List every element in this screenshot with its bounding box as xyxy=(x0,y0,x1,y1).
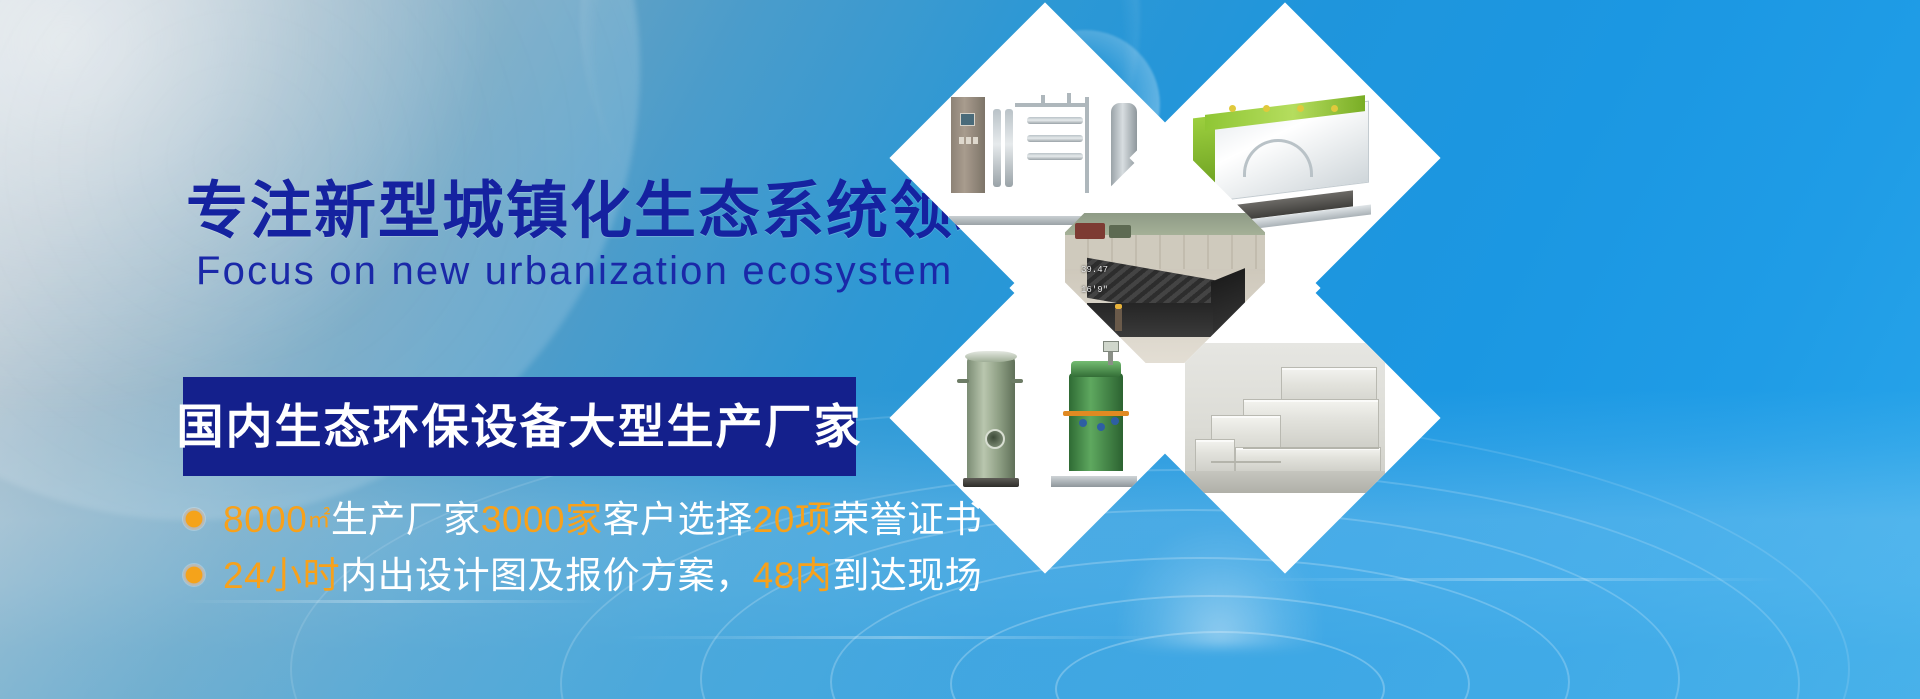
concrete-panel-stack-photo-icon xyxy=(1185,343,1385,493)
page-title: 专注新型城镇化生态系统领域 xyxy=(186,181,1018,243)
feature-area-label: 生产厂家 xyxy=(331,501,481,538)
bullet-dot-icon xyxy=(183,508,205,530)
ribbon-label: 国内生态环保设备大型生产厂家 xyxy=(177,403,863,450)
feature-area-value: 8000 xyxy=(223,501,307,538)
subtitle-english: Focus on new urbanization ecosystem xyxy=(196,251,953,291)
headline-column: 专注新型城镇化生态系统领域 Focus on new urbanization … xyxy=(0,0,920,699)
feature-onsite-hours: 48内 xyxy=(753,557,833,594)
feature-awards-value: 20项 xyxy=(753,501,833,538)
list-item: 24小时 内出设计图及报价方案， 48内 到达现场 xyxy=(183,551,982,599)
hero-banner: 专注新型城镇化生态系统领域 Focus on new urbanization … xyxy=(0,0,1920,699)
feature-area-unit: ㎡ xyxy=(307,508,331,531)
pump-station-photo-icon xyxy=(945,343,1145,493)
feature-list: 8000 ㎡ 生产厂家 3000家 客户选择 20项 荣誉证书 24小时 内出设… xyxy=(183,495,982,607)
feature-design-hours: 24小时 xyxy=(223,557,340,594)
list-item: 8000 ㎡ 生产厂家 3000家 客户选择 20项 荣誉证书 xyxy=(183,495,982,543)
feature-design-label: 内出设计图及报价方案， xyxy=(340,557,753,594)
feature-clients-label: 客户选择 xyxy=(603,501,753,538)
feature-clients-value: 3000家 xyxy=(481,501,603,538)
ribbon-banner: 国内生态环保设备大型生产厂家 xyxy=(183,377,856,476)
bullet-dot-icon xyxy=(183,564,205,586)
product-diamond-grid: 39.47 16'9" 2020-07-23 xyxy=(900,0,1920,699)
